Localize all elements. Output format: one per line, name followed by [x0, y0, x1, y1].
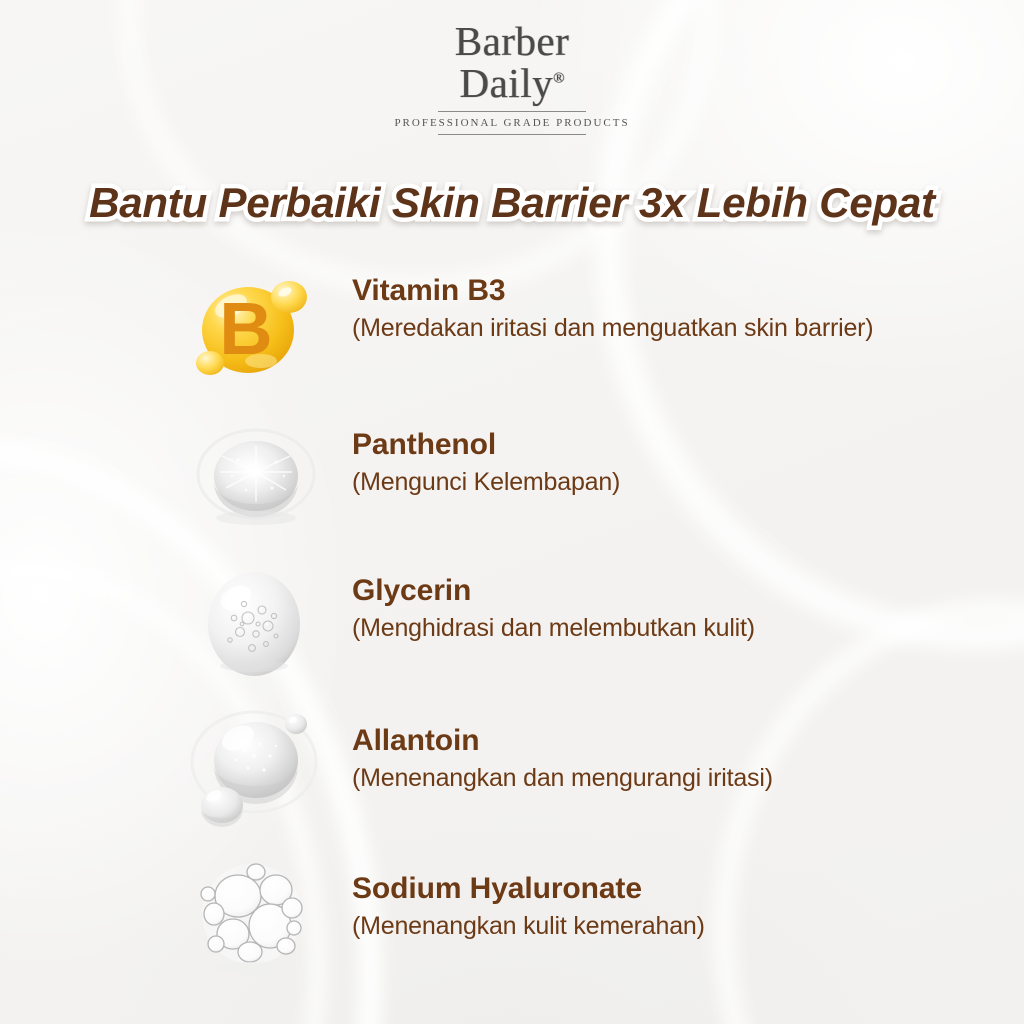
list-item: B Vitamin B3 (Meredakan iritasi dan meng… [186, 262, 1006, 406]
logo-divider-bottom [438, 134, 586, 135]
ingredient-text: Glycerin (Menghidrasi dan melembutkan ku… [352, 574, 1002, 644]
logo-divider-top [438, 111, 586, 112]
ingredient-name: Glycerin [352, 574, 1002, 608]
brand-name-line-1: Barber [0, 22, 1024, 61]
ingredient-text: Allantoin (Menenangkan dan mengurangi ir… [352, 724, 1002, 794]
vitamin-b-gold-droplet-icon: B [186, 262, 326, 394]
registered-trademark-icon: ® [553, 70, 564, 86]
ingredient-list: B Vitamin B3 (Meredakan iritasi dan meng… [186, 262, 1006, 982]
ingredient-description: (Menenangkan kulit kemerahan) [352, 910, 1002, 942]
list-item: Glycerin (Menghidrasi dan melembutkan ku… [186, 550, 1006, 694]
brand-logo: Barber Daily® PROFESSIONAL GRADE PRODUCT… [0, 22, 1024, 135]
svg-text:B: B [219, 287, 272, 370]
ingredient-name: Vitamin B3 [352, 274, 1002, 308]
brand-tagline: PROFESSIONAL GRADE PRODUCTS [0, 117, 1024, 129]
silver-sphere-satellite-bubbles-icon [186, 706, 326, 838]
list-item: Sodium Hyaluronate (Menenangkan kulit ke… [186, 838, 1006, 982]
ingredient-name: Sodium Hyaluronate [352, 872, 1002, 906]
list-item: Allantoin (Menenangkan dan mengurangi ir… [186, 694, 1006, 838]
list-item: Panthenol (Mengunci Kelembapan) [186, 406, 1006, 550]
ingredient-description: (Meredakan iritasi dan menguatkan skin b… [352, 312, 1002, 344]
ingredient-text: Panthenol (Mengunci Kelembapan) [352, 428, 1002, 498]
page-headline: Bantu Perbaiki Skin Barrier 3x Lebih Cep… [0, 179, 1024, 227]
brand-name-line-2: Daily® [0, 64, 1024, 103]
ingredient-description: (Menghidrasi dan melembutkan kulit) [352, 612, 1002, 644]
ingredient-name: Panthenol [352, 428, 1002, 462]
silver-droplet-starburst-icon [186, 410, 326, 542]
ingredient-description: (Mengunci Kelembapan) [352, 466, 1002, 498]
foam-bubble-cluster-icon [186, 852, 326, 984]
ingredient-name: Allantoin [352, 724, 1002, 758]
clear-gel-bubble-droplet-icon [186, 560, 326, 692]
ingredient-text: Sodium Hyaluronate (Menenangkan kulit ke… [352, 872, 1002, 942]
brand-name-line-2-text: Daily [460, 60, 554, 106]
ingredient-text: Vitamin B3 (Meredakan iritasi dan mengua… [352, 274, 1002, 344]
poster-canvas: Barber Daily® PROFESSIONAL GRADE PRODUCT… [0, 0, 1024, 1024]
ingredient-description: (Menenangkan dan mengurangi iritasi) [352, 762, 1002, 794]
